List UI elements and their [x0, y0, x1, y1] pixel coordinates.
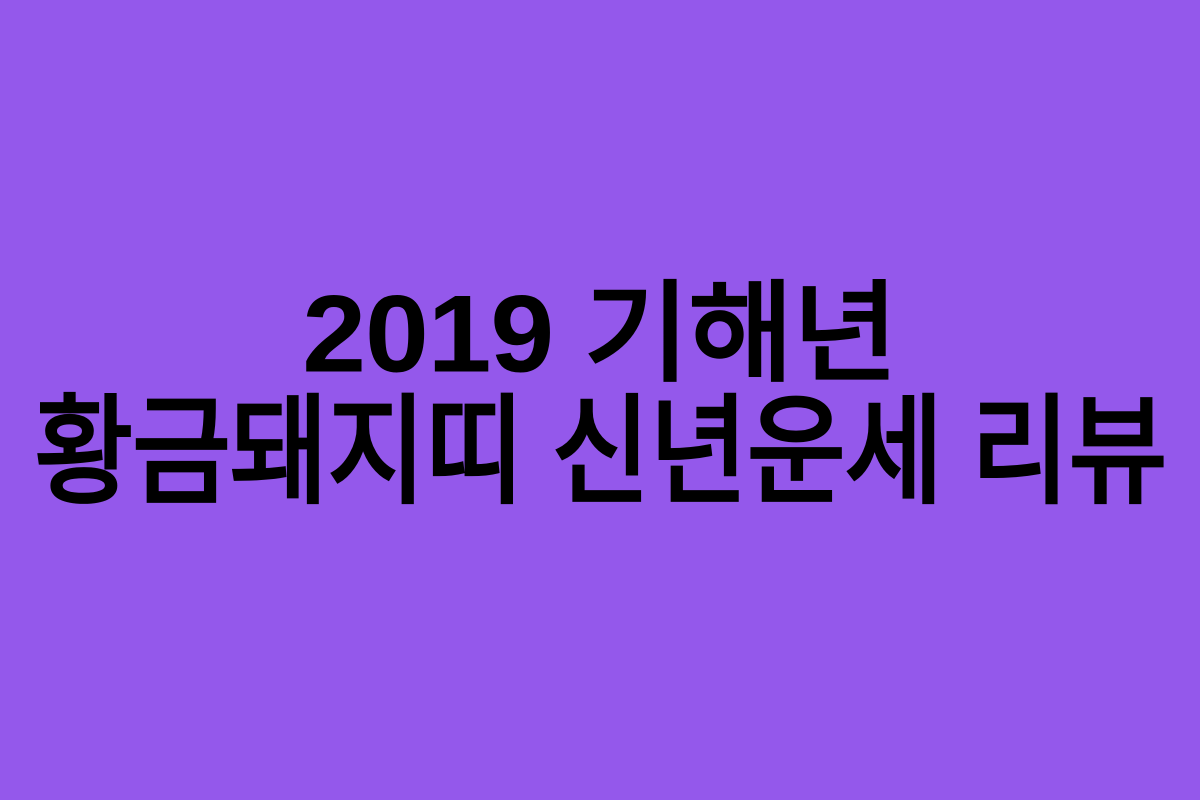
title-banner: 2019 기해년 황금돼지띠 신년운세 리뷰 [0, 0, 1200, 800]
title-line-primary: 2019 기해년 [303, 276, 898, 395]
title-line-secondary: 황금돼지띠 신년운세 리뷰 [34, 389, 1166, 517]
page-title: 2019 기해년 황금돼지띠 신년운세 리뷰 [0, 283, 1200, 509]
